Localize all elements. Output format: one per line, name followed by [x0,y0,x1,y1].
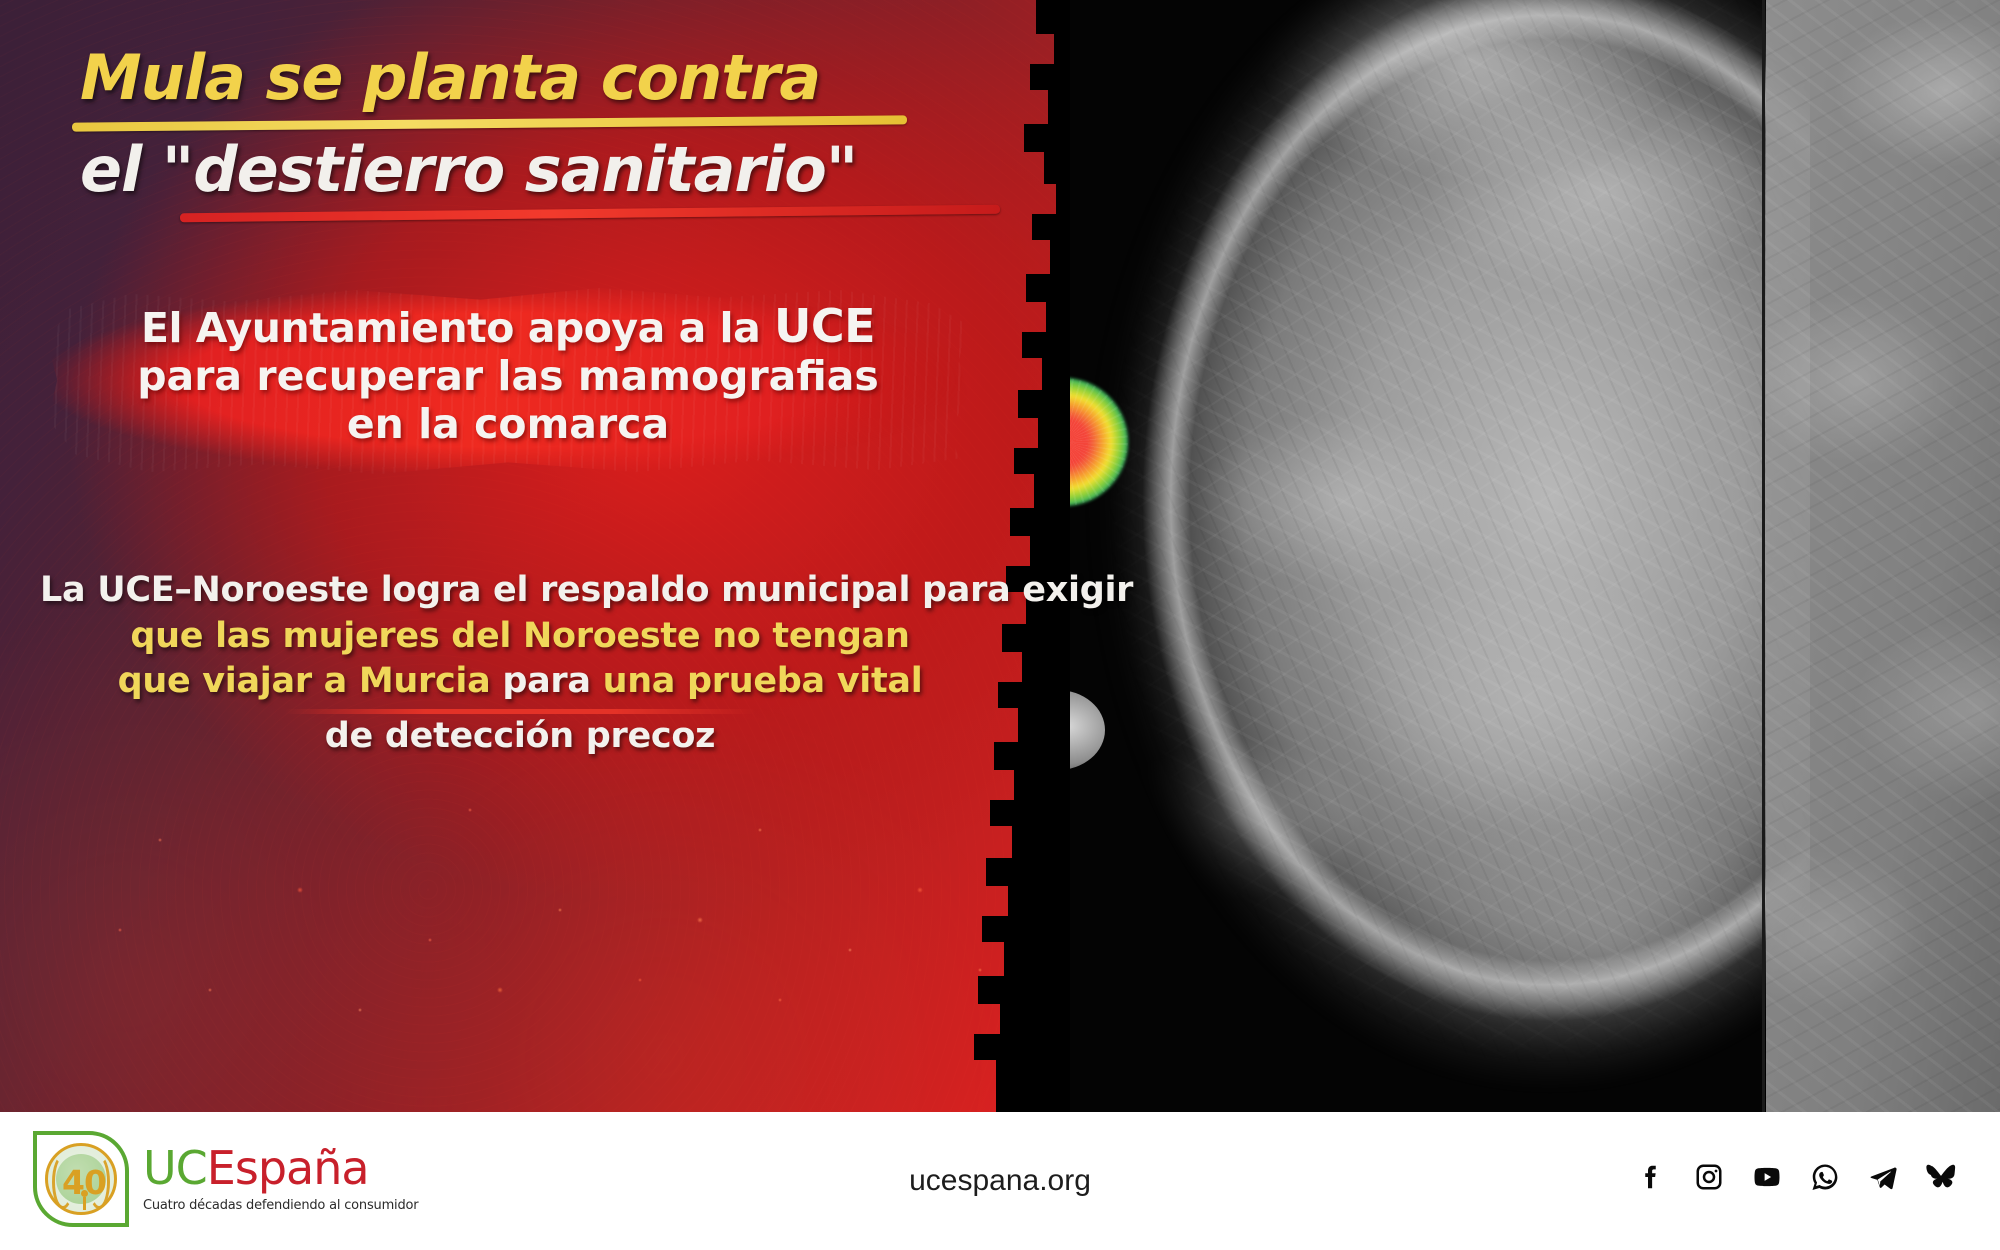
artwork-area: 99% [0,0,2000,1112]
brand-tagline: Cuatro décadas defendiendo al consumidor [143,1198,418,1213]
headline-underline-yellow [72,116,907,132]
body-line-3: que viajar a Murcia para una prueba vita… [40,659,1000,705]
brand-text-block: UCEspaña Cuatro décadas defendiendo al c… [143,1145,418,1213]
body-line-2-a: que las mujeres del Noroeste [130,616,712,656]
banner-text-block: El Ayuntamiento apoya a la UCE para recu… [48,300,968,448]
poster-root: 99% [0,0,2000,1250]
whatsapp-icon[interactable] [1810,1162,1840,1192]
tissue-texture-secondary [1766,0,2000,1112]
body-line-4: de detección precoz [40,714,1000,760]
coin-circle-icon: 40 [45,1143,117,1215]
body-line-3-c: una prueba vital [603,661,923,701]
body-copy-block: La UCE–Noroeste logra el respaldo munici… [40,568,1000,759]
facebook-icon[interactable] [1636,1162,1666,1192]
body-line-3-b: para [502,661,602,701]
telegram-icon[interactable] [1868,1162,1898,1192]
headline-line-2: el "destierro sanitario" [80,138,980,201]
social-links [1636,1162,1956,1192]
banner-line-1-a: El Ayuntamiento apoya a la [141,304,774,352]
brand-name: UCEspaña [143,1145,418,1191]
uce-logo[interactable]: 40 UCEspaña Cuatro décadas defendiendo a… [33,1131,418,1227]
banner-line-2-a: para [137,352,256,400]
body-line-2: que las mujeres del Noroeste no tengan [40,614,1000,660]
body-line-2-b: no tengan [712,616,909,656]
headline-line-1: Mula se planta contra [80,46,980,109]
banner-line-1-b: UCE [774,299,875,353]
banner-line-3: en la comarca [48,401,968,449]
anniversary-number: 40 [48,1146,120,1218]
youtube-icon[interactable] [1752,1162,1782,1192]
body-line-3-a: que viajar a Murcia [118,661,503,701]
brand-name-espana: España [207,1141,369,1195]
brand-name-uc: UC [143,1141,207,1195]
banner-line-1: El Ayuntamiento apoya a la UCE [48,300,968,353]
headline-block: Mula se planta contra el "destierro sani… [80,46,980,218]
film-divider-line [1762,0,1765,1112]
brush-banner: El Ayuntamiento apoya a la UCE para recu… [48,282,968,478]
mammogram-scan [1050,0,2000,1112]
footer-bar: ucespana.org 40 UCEspaña Cuatro décadas … [0,1112,2000,1250]
banner-line-2-b: recuperar las mamografias [256,352,878,400]
banner-line-2: para recuperar las mamografias [48,353,968,401]
tissue-texture-main [1050,0,1810,1112]
instagram-icon[interactable] [1694,1162,1724,1192]
anniversary-emblem-icon: 40 [33,1131,129,1227]
body-line-1: La UCE–Noroeste logra el respaldo munici… [40,568,1000,614]
bluesky-icon[interactable] [1926,1162,1956,1192]
